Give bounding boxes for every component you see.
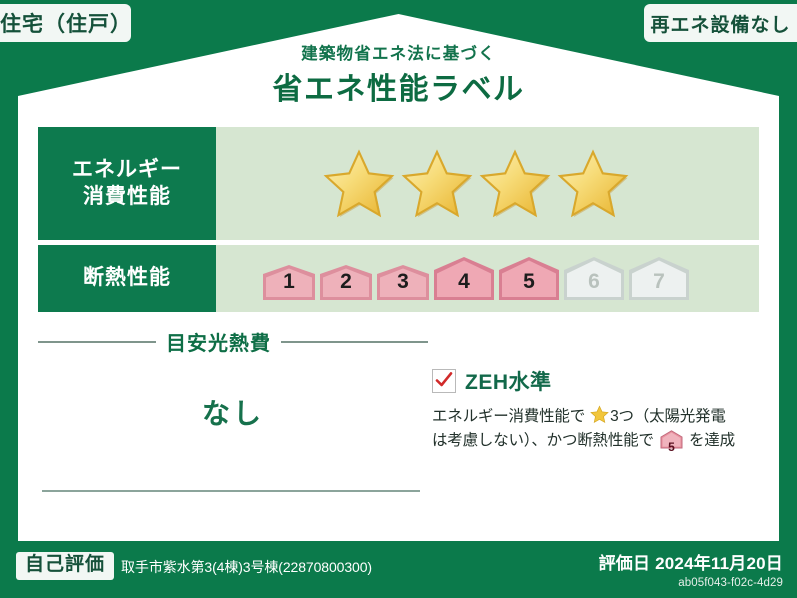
zeh-panel: ZEH水準 エネルギー消費性能で 3つ（太陽光発電 は考慮しない）、かつ断熱性能… — [432, 366, 762, 458]
insulation-performance-value: 1234567 — [216, 245, 759, 312]
insulation-grade-6: 6 — [563, 256, 625, 301]
renewable-equipment-badge: 再エネ設備なし — [644, 4, 797, 42]
zeh-desc-part1: エネルギー消費性能で — [432, 408, 585, 425]
check-icon — [434, 370, 454, 390]
inline-grade-badge: 5 — [660, 430, 683, 457]
insulation-performance-key: 断熱性能 — [38, 245, 216, 312]
zeh-desc-part4: を達成 — [689, 432, 735, 449]
star-icon — [590, 405, 609, 424]
page-title: 省エネ性能ラベル — [0, 75, 797, 105]
star-icon — [478, 148, 552, 220]
house-badge-icon — [628, 256, 690, 301]
utility-cost-underline — [42, 490, 420, 492]
performance-rows: エネルギー 消費性能 断熱性能 1234567 — [38, 127, 759, 317]
evaluation-date: 評価日 2024年11月20日 — [599, 549, 783, 574]
zeh-desc-part3: は考慮しない）、かつ断熱性能で — [432, 432, 654, 449]
zeh-desc-part2: 3つ（太陽光発電 — [610, 408, 726, 425]
zeh-title: ZEH水準 — [465, 366, 552, 396]
utility-cost-value: なし — [38, 392, 428, 432]
inline-grade-number: 5 — [660, 438, 683, 457]
insulation-grade-7: 7 — [628, 256, 690, 301]
insulation-grade-5: 5 — [498, 256, 560, 301]
energy-performance-row: エネルギー 消費性能 — [38, 127, 759, 240]
energy-performance-label: 住宅（住戸） 再エネ設備なし 建築物省エネ法に基づく 省エネ性能ラベル エネルギ… — [0, 0, 797, 598]
star-rating — [322, 148, 630, 220]
star-icon — [400, 148, 474, 220]
title-block: 建築物省エネ法に基づく 省エネ性能ラベル — [0, 46, 797, 105]
energy-performance-label-line2: 消費性能 — [83, 184, 171, 211]
utility-cost-heading: 目安光熱費 — [38, 327, 428, 356]
building-type-badge: 住宅（住戸） — [0, 4, 131, 42]
zeh-description: エネルギー消費性能で 3つ（太陽光発電 は考慮しない）、かつ断熱性能で 5 を達… — [432, 405, 762, 458]
energy-performance-key: エネルギー 消費性能 — [38, 127, 216, 240]
house-badge-icon — [262, 264, 316, 301]
house-badge-icon — [563, 256, 625, 301]
insulation-grade-1: 1 — [262, 264, 316, 301]
energy-performance-value — [216, 127, 759, 240]
insulation-grade-2: 2 — [319, 264, 373, 301]
zeh-heading: ZEH水準 — [432, 366, 762, 396]
star-icon — [556, 148, 630, 220]
footer-left: 自己評価 取手市紫水第3(4棟)3号棟(22870800300) — [16, 552, 372, 580]
heading-rule-right — [281, 341, 428, 343]
label-footer: 自己評価 取手市紫水第3(4棟)3号棟(22870800300) 評価日 202… — [0, 541, 797, 598]
insulation-grade-3: 3 — [376, 264, 430, 301]
evaluation-id: ab05f043-f02c-4d29 — [599, 577, 783, 589]
evaluation-type-badge: 自己評価 — [16, 552, 114, 580]
insulation-grade-scale: 1234567 — [262, 256, 690, 301]
house-badge-icon — [376, 264, 430, 301]
property-address: 取手市紫水第3(4棟)3号棟(22870800300) — [121, 554, 372, 577]
footer-right: 評価日 2024年11月20日 ab05f043-f02c-4d29 — [599, 549, 783, 589]
insulation-performance-row: 断熱性能 1234567 — [38, 245, 759, 312]
house-badge-icon — [433, 256, 495, 301]
heading-rule-left — [38, 341, 156, 343]
energy-performance-label-line1: エネルギー — [72, 157, 182, 184]
title-subtitle: 建築物省エネ法に基づく — [0, 46, 797, 63]
zeh-checkbox[interactable] — [432, 369, 456, 393]
star-icon — [322, 148, 396, 220]
utility-cost-heading-text: 目安光熱費 — [166, 327, 271, 356]
house-badge-icon — [319, 264, 373, 301]
house-badge-icon — [498, 256, 560, 301]
insulation-grade-4: 4 — [433, 256, 495, 301]
